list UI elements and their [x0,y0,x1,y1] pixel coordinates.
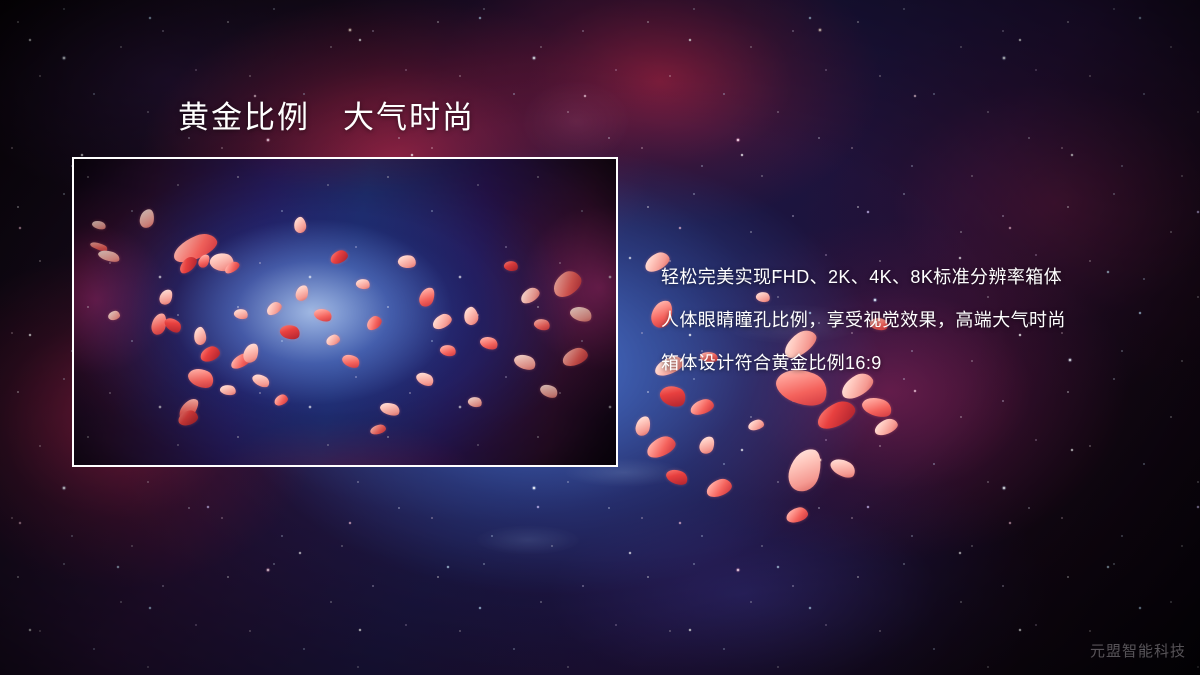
page-title: 黄金比例 大气时尚 [178,100,475,137]
feature-line: 箱体设计符合黄金比例16:9 [661,342,1181,385]
feature-line: 轻松完美实现FHD、2K、4K、8K标准分辨率箱体 [661,256,1181,299]
preview-vignette [74,159,616,465]
brand-watermark: 元盟智能科技 [1090,640,1186,661]
presentation-slide: 黄金比例 大气时尚 轻松完美实现FHD、2K、4K、8K标准分辨率箱体人体眼睛瞳… [0,0,1200,675]
preview-image-frame [72,157,618,467]
feature-line: 人体眼睛瞳孔比例，享受视觉效果，高端大气时尚 [661,299,1181,342]
feature-description: 轻松完美实现FHD、2K、4K、8K标准分辨率箱体人体眼睛瞳孔比例，享受视觉效果… [661,256,1181,385]
